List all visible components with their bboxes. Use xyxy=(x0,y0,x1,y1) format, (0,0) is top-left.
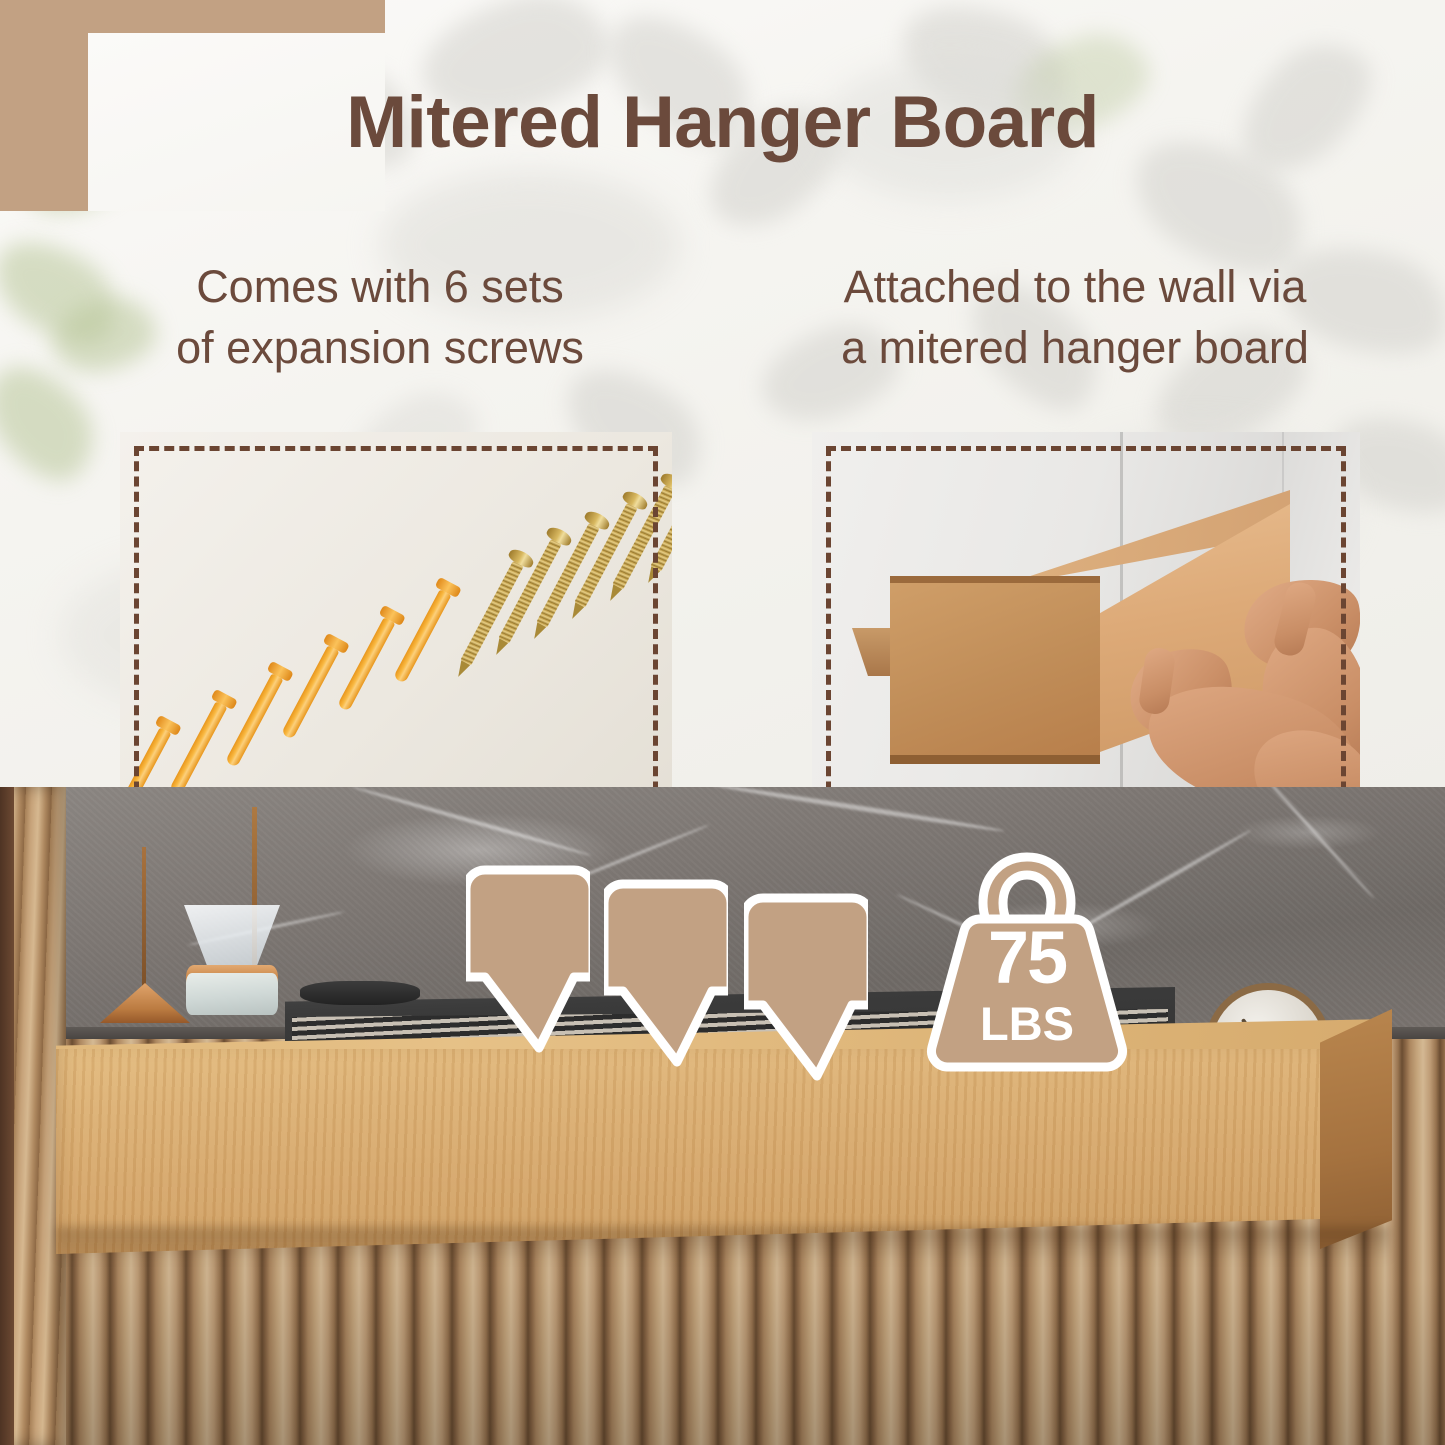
floating-shelf-end-cap xyxy=(1320,1009,1392,1249)
decor-glass-base xyxy=(186,973,278,1015)
feature-caption-hanger-line2: a mitered hanger board xyxy=(745,317,1405,378)
feature-caption-screws: Comes with 6 sets of expansion screws xyxy=(60,256,700,378)
weight-capacity-badge: 75 LBS xyxy=(905,843,1149,1073)
hanger-board-photo xyxy=(812,432,1360,836)
load-arrow-1 xyxy=(466,862,590,1062)
weight-value: 75 xyxy=(905,921,1149,995)
decor-stem-short xyxy=(142,847,146,987)
infographic-canvas: Mitered Hanger Board Comes with 6 sets o… xyxy=(0,0,1445,1445)
floating-shelf-shadow xyxy=(56,1227,1389,1261)
page-title: Mitered Hanger Board xyxy=(0,85,1445,162)
feature-caption-screws-line2: of expansion screws xyxy=(60,317,700,378)
load-arrow-3 xyxy=(744,890,868,1090)
feature-caption-hanger: Attached to the wall via a mitered hange… xyxy=(745,256,1405,378)
expansion-screws-photo xyxy=(120,432,672,836)
weight-unit: LBS xyxy=(905,1000,1149,1047)
load-arrow-2 xyxy=(604,876,728,1076)
feature-caption-hanger-line1: Attached to the wall via xyxy=(745,256,1405,317)
decor-soundbar-top-plate xyxy=(300,981,420,1005)
feature-caption-screws-line1: Comes with 6 sets xyxy=(60,256,700,317)
wall-edge-left xyxy=(0,787,14,1445)
